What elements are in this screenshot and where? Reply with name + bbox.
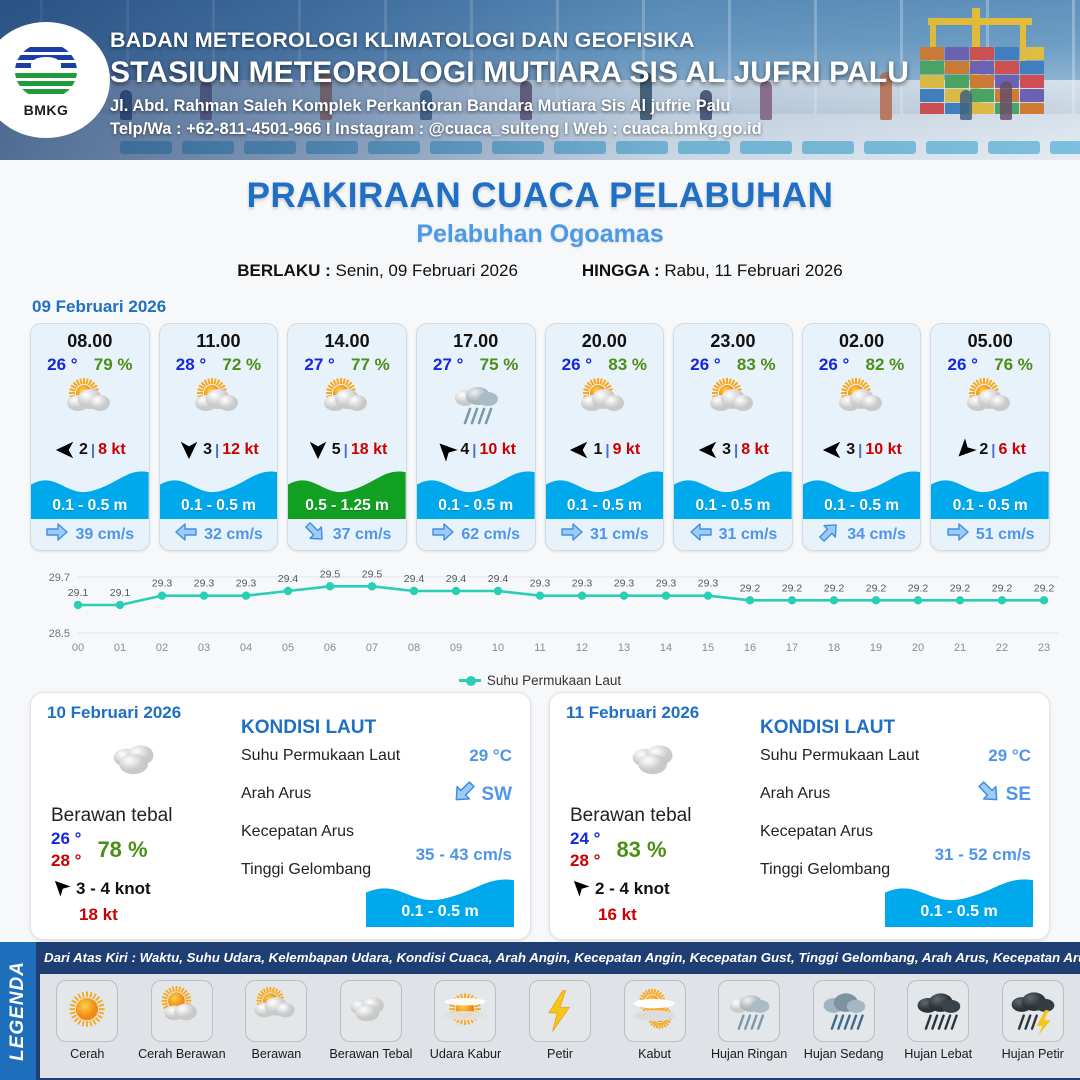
wind-gust: 6 kt xyxy=(998,441,1026,459)
wind-speed: 3 xyxy=(722,441,731,459)
svg-text:29.4: 29.4 xyxy=(488,573,509,585)
legend-item-label: Kabut xyxy=(638,1047,671,1061)
svg-text:08: 08 xyxy=(408,642,420,654)
wave-height-block: 0.1 - 0.5 m xyxy=(674,467,792,519)
current-speed: 31 cm/s xyxy=(719,526,778,544)
card-time: 20.00 xyxy=(546,324,664,352)
page-header: BMKG BADAN METEOROLOGI KLIMATOLOGI DAN G… xyxy=(0,0,1080,160)
wind-speed: 2 xyxy=(979,441,988,459)
card-humidity: 77 % xyxy=(351,355,390,375)
svg-text:29.2: 29.2 xyxy=(824,582,845,594)
sst-chart: 29.728.529.10029.10129.30229.30329.30429… xyxy=(22,561,1058,671)
sunny-icon xyxy=(56,980,118,1042)
wind-gust: 12 kt xyxy=(222,441,258,459)
wave-height-label: Tinggi Gelombang xyxy=(241,861,371,879)
panel-condition: Berawan tebal xyxy=(51,805,233,827)
cloudy-icon xyxy=(31,375,149,433)
legend-item-label: Cerah xyxy=(70,1047,104,1061)
current-direction-icon xyxy=(431,520,455,549)
wind-direction-icon xyxy=(435,439,457,461)
card-temperature: 26 ° xyxy=(562,355,592,375)
cloudy-icon xyxy=(674,375,792,433)
svg-text:28.5: 28.5 xyxy=(49,628,70,640)
legend-item-label: Hujan Petir xyxy=(1002,1047,1064,1061)
wave-height-value: 0.1 - 0.5 m xyxy=(417,497,535,515)
legend-item-label: Udara Kabur xyxy=(430,1047,501,1061)
svg-text:29.3: 29.3 xyxy=(236,578,257,590)
legend-item: Petir xyxy=(513,980,608,1061)
wind-gust: 18 kt xyxy=(351,441,387,459)
svg-text:29.2: 29.2 xyxy=(866,582,887,594)
legend-item-label: Cerah Berawan xyxy=(138,1047,226,1061)
wind-speed: 5 xyxy=(332,441,341,459)
svg-text:29.2: 29.2 xyxy=(1034,582,1055,594)
card-humidity: 83 % xyxy=(737,355,776,375)
header-text-block: BADAN METEOROLOGI KLIMATOLOGI DAN GEOFIS… xyxy=(110,28,909,139)
svg-text:15: 15 xyxy=(702,642,714,654)
wind-separator: | xyxy=(858,442,862,459)
wind-separator: | xyxy=(472,442,476,459)
berlaku-group: BERLAKU : Senin, 09 Februari 2026 xyxy=(237,261,518,281)
svg-text:29.7: 29.7 xyxy=(49,572,70,584)
wind-direction-icon xyxy=(307,439,329,461)
wind-separator: | xyxy=(215,442,219,459)
card-time: 02.00 xyxy=(803,324,921,352)
wind-direction-icon xyxy=(178,439,200,461)
hourly-card: 17.0027 °75 %4|10 kt0.1 - 0.5 m62 cm/s xyxy=(416,323,536,551)
wave-height-block: 0.1 - 0.5 m xyxy=(803,467,921,519)
fog-icon xyxy=(624,980,686,1042)
current-direction-icon xyxy=(817,520,841,549)
svg-text:00: 00 xyxy=(72,642,84,654)
svg-text:07: 07 xyxy=(366,642,378,654)
panel-wave-value: 0.1 - 0.5 m xyxy=(885,903,1033,921)
legend-note: Dari Atas Kiri : Waktu, Suhu Udara, Kele… xyxy=(44,950,1074,965)
wind-separator: | xyxy=(344,442,348,459)
svg-text:29.2: 29.2 xyxy=(740,582,761,594)
panel-temp-min: 26 ° xyxy=(51,829,81,849)
card-time: 14.00 xyxy=(288,324,406,352)
panel-current-direction-icon xyxy=(976,779,1002,810)
wind-gust: 8 kt xyxy=(741,441,769,459)
card-temperature: 26 ° xyxy=(819,355,849,375)
svg-text:17: 17 xyxy=(786,642,798,654)
panel-date: 11 Februari 2026 xyxy=(566,703,752,723)
panel-date: 10 Februari 2026 xyxy=(47,703,233,723)
svg-text:29.4: 29.4 xyxy=(446,573,467,585)
card-humidity: 76 % xyxy=(994,355,1033,375)
svg-text:23: 23 xyxy=(1038,642,1050,654)
partly-cloudy-icon xyxy=(151,980,213,1042)
current-speed-label: Kecepatan Arus xyxy=(760,823,873,841)
overcast-icon xyxy=(340,980,402,1042)
panel-wind-direction-icon xyxy=(570,877,589,901)
light-rain-icon xyxy=(718,980,780,1042)
card-time: 05.00 xyxy=(931,324,1049,352)
hourly-card: 02.0026 °82 %3|10 kt0.1 - 0.5 m34 cm/s xyxy=(802,323,922,551)
legend-item: Berawan xyxy=(229,980,324,1061)
card-time: 08.00 xyxy=(31,324,149,352)
current-direction-value: SW xyxy=(481,784,512,806)
overcast-icon xyxy=(43,731,233,793)
chart-legend-label: Suhu Permukaan Laut xyxy=(487,673,621,688)
wind-separator: | xyxy=(734,442,738,459)
card-temperature: 26 ° xyxy=(947,355,977,375)
current-speed: 51 cm/s xyxy=(976,526,1035,544)
svg-text:20: 20 xyxy=(912,642,924,654)
svg-text:04: 04 xyxy=(240,642,252,654)
legend-bar: LEGENDA Dari Atas Kiri : Waktu, Suhu Uda… xyxy=(0,942,1080,1080)
legend-item-label: Berawan Tebal xyxy=(329,1047,412,1061)
page-subtitle: Pelabuhan Ogoamas xyxy=(0,220,1080,249)
panel-condition: Berawan tebal xyxy=(570,805,752,827)
wave-height-value: 0.1 - 0.5 m xyxy=(931,497,1049,515)
wind-speed: 2 xyxy=(79,441,88,459)
legend-item: Hujan Petir xyxy=(985,980,1080,1061)
card-time: 17.00 xyxy=(417,324,535,352)
wave-height-value: 0.1 - 0.5 m xyxy=(31,497,149,515)
chart-legend: Suhu Permukaan Laut xyxy=(0,673,1080,688)
overcast-icon xyxy=(562,731,752,793)
current-speed-label: Kecepatan Arus xyxy=(241,823,354,841)
panel-wind-gust: 16 kt xyxy=(598,905,752,925)
panel-wind-speed: 2 - 4 knot xyxy=(595,879,670,899)
hourly-card: 05.0026 °76 %2|6 kt0.1 - 0.5 m51 cm/s xyxy=(930,323,1050,551)
current-direction-label: Arah Arus xyxy=(760,785,830,803)
svg-text:16: 16 xyxy=(744,642,756,654)
panel-wind-direction-icon xyxy=(51,877,70,901)
legenda-tab-label: LEGENDA xyxy=(7,961,29,1061)
wave-height-value: 0.1 - 0.5 m xyxy=(674,497,792,515)
hourly-card: 08.0026 °79 %2|8 kt0.1 - 0.5 m39 cm/s xyxy=(30,323,150,551)
card-time: 23.00 xyxy=(674,324,792,352)
svg-text:09: 09 xyxy=(450,642,462,654)
svg-text:10: 10 xyxy=(492,642,504,654)
light-rain-icon xyxy=(417,375,535,433)
wind-gust: 9 kt xyxy=(613,441,641,459)
legend-item: Cerah xyxy=(40,980,135,1061)
hingga-value: Rabu, 11 Februari 2026 xyxy=(664,261,842,280)
current-speed: 32 cm/s xyxy=(204,526,263,544)
svg-text:29.2: 29.2 xyxy=(782,582,803,594)
svg-text:14: 14 xyxy=(660,642,672,654)
panel-wave-block: 0.1 - 0.5 m xyxy=(366,875,514,927)
page-title: PRAKIRAAN CUACA PELABUHAN xyxy=(0,176,1080,216)
moderate-rain-icon xyxy=(813,980,875,1042)
svg-text:29.3: 29.3 xyxy=(656,578,677,590)
svg-text:03: 03 xyxy=(198,642,210,654)
cloudy-icon xyxy=(803,375,921,433)
wind-speed: 3 xyxy=(203,441,212,459)
wave-height-value: 0.5 - 1.25 m xyxy=(288,497,406,515)
legend-item: Hujan Lebat xyxy=(891,980,986,1061)
wave-height-value: 0.1 - 0.5 m xyxy=(546,497,664,515)
wave-height-label: Tinggi Gelombang xyxy=(760,861,890,879)
haze-icon xyxy=(434,980,496,1042)
berlaku-value: Senin, 09 Februari 2026 xyxy=(336,261,518,280)
cloudy-icon xyxy=(931,375,1049,433)
cloudy-icon xyxy=(546,375,664,433)
wind-direction-icon xyxy=(568,439,590,461)
card-time: 11.00 xyxy=(160,324,278,352)
berlaku-label: BERLAKU : xyxy=(237,261,331,280)
svg-text:06: 06 xyxy=(324,642,336,654)
svg-text:29.5: 29.5 xyxy=(362,568,383,580)
hingga-group: HINGGA : Rabu, 11 Februari 2026 xyxy=(582,261,843,281)
current-direction-icon xyxy=(303,520,327,549)
current-speed: 31 cm/s xyxy=(590,526,649,544)
svg-text:29.3: 29.3 xyxy=(530,578,551,590)
station-contact: Telp/Wa : +62-811-4501-966 I Instagram :… xyxy=(110,120,909,139)
current-direction-icon xyxy=(560,520,584,549)
legend-icon-list: CerahCerah BerawanBerawanBerawan TebalUd… xyxy=(40,974,1080,1078)
hourly-card: 20.0026 °83 %1|9 kt0.1 - 0.5 m31 cm/s xyxy=(545,323,665,551)
sst-value: 29 °C xyxy=(988,746,1031,766)
agency-name: BADAN METEOROLOGI KLIMATOLOGI DAN GEOFIS… xyxy=(110,28,909,53)
thunder-icon xyxy=(529,980,591,1042)
current-speed: 37 cm/s xyxy=(333,526,392,544)
svg-text:12: 12 xyxy=(576,642,588,654)
wave-height-block: 0.1 - 0.5 m xyxy=(931,467,1049,519)
svg-text:29.2: 29.2 xyxy=(950,582,971,594)
hourly-forecast-cards: 08.0026 °79 %2|8 kt0.1 - 0.5 m39 cm/s11.… xyxy=(0,323,1080,551)
thunderstorm-icon xyxy=(1002,980,1064,1042)
validity-range: BERLAKU : Senin, 09 Februari 2026 HINGGA… xyxy=(0,261,1080,281)
svg-text:19: 19 xyxy=(870,642,882,654)
legend-item-label: Hujan Sedang xyxy=(804,1047,884,1061)
daily-panel: 10 Februari 2026Berawan tebal26 °28 °78 … xyxy=(30,692,531,940)
svg-text:22: 22 xyxy=(996,642,1008,654)
sst-label: Suhu Permukaan Laut xyxy=(760,747,919,765)
wind-speed: 1 xyxy=(593,441,602,459)
wave-height-block: 0.5 - 1.25 m xyxy=(288,467,406,519)
wave-height-value: 0.1 - 0.5 m xyxy=(803,497,921,515)
svg-text:29.5: 29.5 xyxy=(320,568,341,580)
svg-text:02: 02 xyxy=(156,642,168,654)
chart-legend-marker-icon xyxy=(459,679,481,682)
svg-text:29.3: 29.3 xyxy=(572,578,593,590)
svg-text:29.2: 29.2 xyxy=(908,582,929,594)
svg-text:21: 21 xyxy=(954,642,966,654)
hourly-card: 11.0028 °72 %3|12 kt0.1 - 0.5 m32 cm/s xyxy=(159,323,279,551)
wind-separator: | xyxy=(991,442,995,459)
svg-text:29.3: 29.3 xyxy=(698,578,719,590)
wind-gust: 10 kt xyxy=(865,441,901,459)
card-humidity: 79 % xyxy=(94,355,133,375)
panel-humidity: 78 % xyxy=(97,837,147,863)
wave-height-block: 0.1 - 0.5 m xyxy=(160,467,278,519)
card-temperature: 28 ° xyxy=(176,355,206,375)
station-name: STASIUN METEOROLOGI MUTIARA SIS AL JUFRI… xyxy=(110,56,909,90)
legend-item-label: Berawan xyxy=(252,1047,302,1061)
panel-temp-min: 24 ° xyxy=(570,829,600,849)
svg-text:29.4: 29.4 xyxy=(278,573,299,585)
current-direction-value: SE xyxy=(1006,784,1031,806)
legend-item-label: Hujan Lebat xyxy=(904,1047,972,1061)
panel-wind-speed: 3 - 4 knot xyxy=(76,879,151,899)
current-speed: 34 cm/s xyxy=(847,526,906,544)
cloudy-icon xyxy=(160,375,278,433)
legend-item-label: Hujan Ringan xyxy=(711,1047,787,1061)
card-humidity: 72 % xyxy=(222,355,261,375)
current-direction-icon xyxy=(45,520,69,549)
wave-height-block: 0.1 - 0.5 m xyxy=(417,467,535,519)
current-speed: 62 cm/s xyxy=(461,526,520,544)
legend-item: Berawan Tebal xyxy=(324,980,419,1061)
svg-text:29.4: 29.4 xyxy=(404,573,425,585)
bmkg-logo-text: BMKG xyxy=(24,102,69,118)
svg-text:01: 01 xyxy=(114,642,126,654)
legend-item: Hujan Ringan xyxy=(702,980,797,1061)
svg-text:29.2: 29.2 xyxy=(992,582,1013,594)
svg-text:05: 05 xyxy=(282,642,294,654)
svg-text:29.1: 29.1 xyxy=(110,587,131,599)
current-speed: 39 cm/s xyxy=(75,526,134,544)
wind-gust: 8 kt xyxy=(98,441,126,459)
hourly-card: 14.0027 °77 %5|18 kt0.5 - 1.25 m37 cm/s xyxy=(287,323,407,551)
heavy-rain-icon xyxy=(907,980,969,1042)
daily-forecast-panels: 10 Februari 2026Berawan tebal26 °28 °78 … xyxy=(0,688,1080,940)
panel-wave-block: 0.1 - 0.5 m xyxy=(885,875,1033,927)
sst-label: Suhu Permukaan Laut xyxy=(241,747,400,765)
panel-current-direction-icon xyxy=(451,779,477,810)
wind-speed: 4 xyxy=(460,441,469,459)
legend-item: Udara Kabur xyxy=(418,980,513,1061)
card-humidity: 82 % xyxy=(866,355,905,375)
wind-direction-icon xyxy=(697,439,719,461)
wind-separator: | xyxy=(91,442,95,459)
current-direction-icon xyxy=(174,520,198,549)
current-direction-icon xyxy=(689,520,713,549)
wind-speed: 3 xyxy=(846,441,855,459)
legenda-tab: LEGENDA xyxy=(0,942,36,1080)
svg-text:29.3: 29.3 xyxy=(152,578,173,590)
wind-direction-icon xyxy=(954,439,976,461)
panel-temp-max: 28 ° xyxy=(51,851,81,871)
hourly-date-label: 09 Februari 2026 xyxy=(32,297,1080,317)
cloudy-icon xyxy=(288,375,406,433)
svg-text:13: 13 xyxy=(618,642,630,654)
wave-height-value: 0.1 - 0.5 m xyxy=(160,497,278,515)
hingga-label: HINGGA : xyxy=(582,261,660,280)
wind-separator: | xyxy=(605,442,609,459)
wind-direction-icon xyxy=(821,439,843,461)
wind-direction-icon xyxy=(54,439,76,461)
card-temperature: 27 ° xyxy=(433,355,463,375)
sea-condition-title: KONDISI LAUT xyxy=(241,717,518,739)
wave-height-block: 0.1 - 0.5 m xyxy=(546,467,664,519)
card-temperature: 27 ° xyxy=(304,355,334,375)
legend-item: Kabut xyxy=(607,980,702,1061)
sea-condition-title: KONDISI LAUT xyxy=(760,717,1037,739)
station-address: Jl. Abd. Rahman Saleh Komplek Perkantora… xyxy=(110,97,909,116)
card-temperature: 26 ° xyxy=(47,355,77,375)
card-temperature: 26 ° xyxy=(690,355,720,375)
svg-text:11: 11 xyxy=(534,642,545,654)
current-direction-icon xyxy=(946,520,970,549)
bmkg-globe-icon xyxy=(15,43,77,99)
panel-wind-gust: 18 kt xyxy=(79,905,233,925)
panel-wave-value: 0.1 - 0.5 m xyxy=(366,903,514,921)
svg-text:29.3: 29.3 xyxy=(194,578,215,590)
legend-item: Cerah Berawan xyxy=(135,980,230,1061)
legend-item-label: Petir xyxy=(547,1047,573,1061)
wave-height-block: 0.1 - 0.5 m xyxy=(31,467,149,519)
svg-text:29.1: 29.1 xyxy=(68,587,89,599)
card-humidity: 83 % xyxy=(608,355,647,375)
card-humidity: 75 % xyxy=(480,355,519,375)
svg-text:18: 18 xyxy=(828,642,840,654)
panel-temp-max: 28 ° xyxy=(570,851,600,871)
daily-panel: 11 Februari 2026Berawan tebal24 °28 °83 … xyxy=(549,692,1050,940)
sst-value: 29 °C xyxy=(469,746,512,766)
wind-gust: 10 kt xyxy=(480,441,516,459)
hourly-card: 23.0026 °83 %3|8 kt0.1 - 0.5 m31 cm/s xyxy=(673,323,793,551)
current-direction-label: Arah Arus xyxy=(241,785,311,803)
legend-item: Hujan Sedang xyxy=(796,980,891,1061)
panel-humidity: 83 % xyxy=(616,837,666,863)
cloudy-icon xyxy=(245,980,307,1042)
svg-text:29.3: 29.3 xyxy=(614,578,635,590)
